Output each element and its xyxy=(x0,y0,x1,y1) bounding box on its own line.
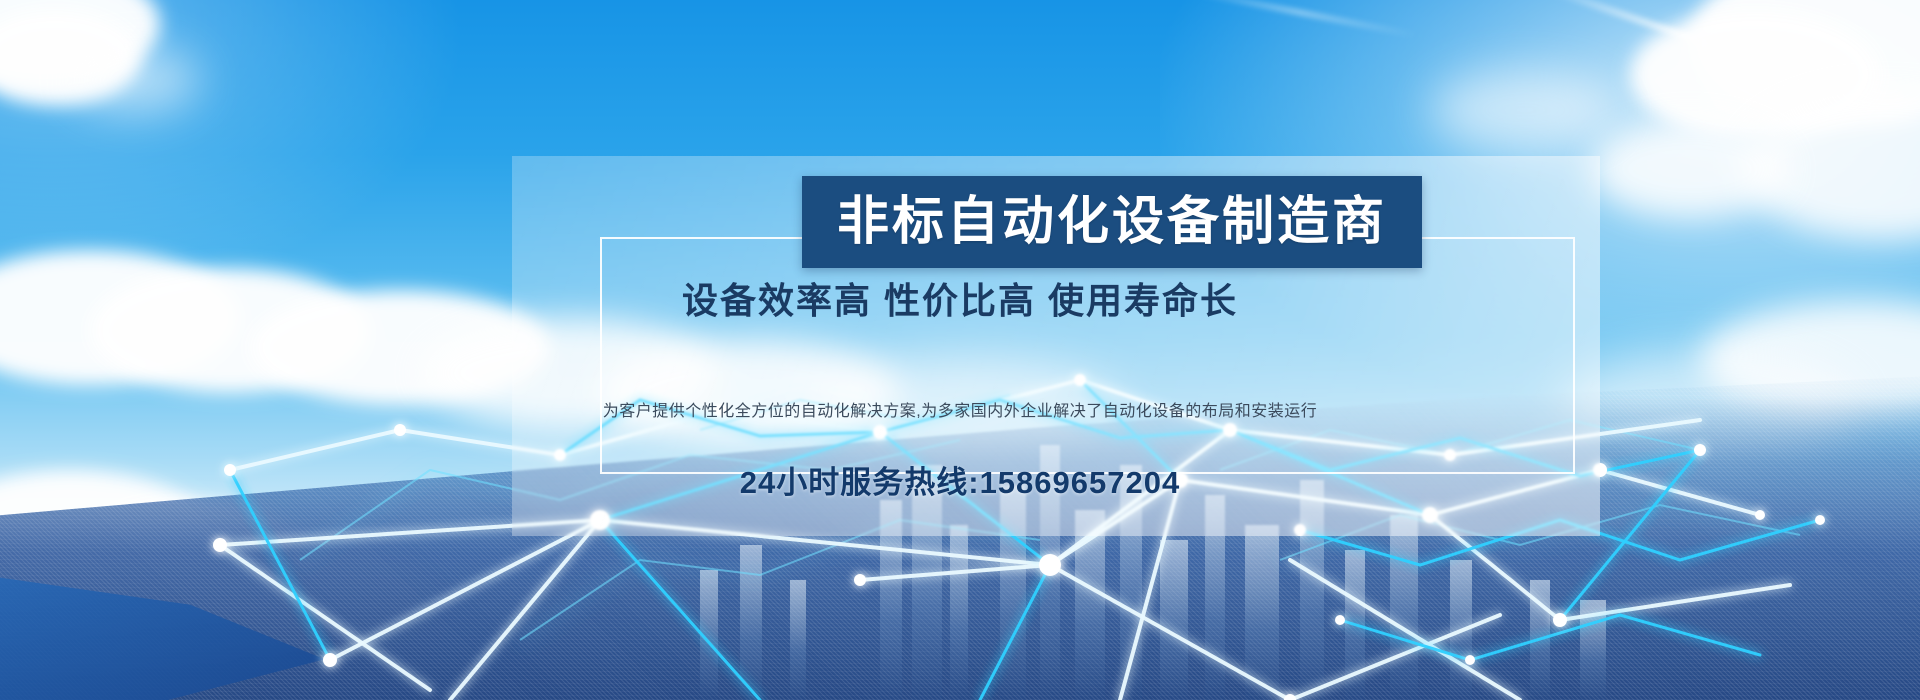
hotline-text: 24小时服务热线:15869657204 xyxy=(0,457,1920,502)
hero-banner: 非标自动化设备制造商 设备效率高 性价比高 使用寿命长 为客户提供个性化全方位的… xyxy=(0,0,1920,700)
headline-box: 非标自动化设备制造商 xyxy=(802,176,1422,268)
subtitle: 设备效率高 性价比高 使用寿命长 xyxy=(0,272,1920,324)
description-text: 为客户提供个性化全方位的自动化解决方案,为多家国内外企业解决了自动化设备的布局和… xyxy=(0,397,1920,421)
page-title: 非标自动化设备制造商 xyxy=(837,196,1387,248)
